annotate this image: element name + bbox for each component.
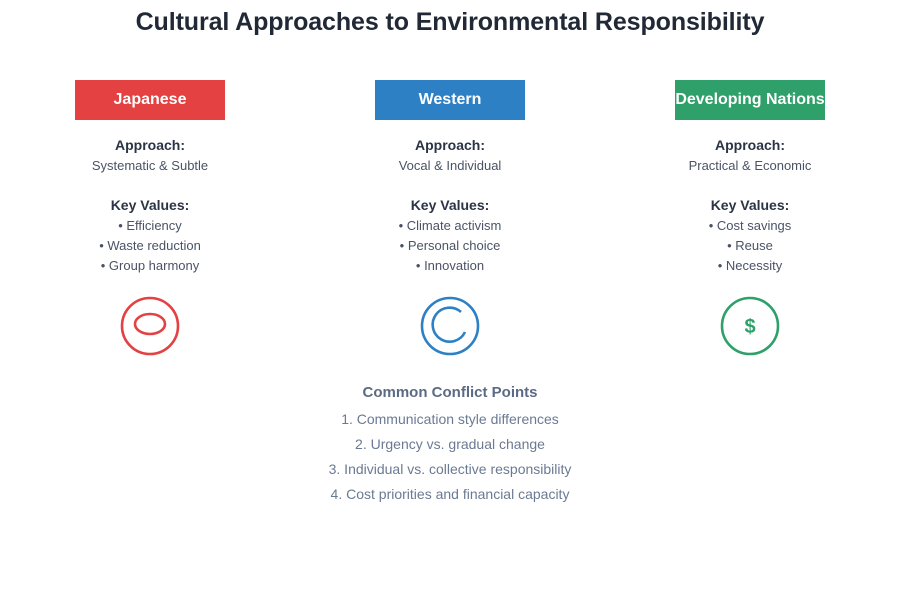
conflict-item: 1. Communication style differences <box>0 411 900 427</box>
approach-value: Vocal & Individual <box>399 158 502 174</box>
culture-columns: Japanese Approach: Systematic & Subtle K… <box>0 80 900 356</box>
key-values-list: • Climate activism • Personal choice • I… <box>399 213 502 273</box>
key-value-item: • Necessity <box>709 258 792 273</box>
ring-with-inner-arc-icon <box>420 296 480 356</box>
key-value-item: • Climate activism <box>399 218 502 233</box>
column-header-western: Western <box>375 80 525 120</box>
conflicts-list: 1. Communication style differences 2. Ur… <box>0 411 900 502</box>
conflict-item: 4. Cost priorities and financial capacit… <box>0 486 900 502</box>
key-value-item: • Innovation <box>399 258 502 273</box>
approach-label: Approach: <box>715 137 785 153</box>
key-value-item: • Reuse <box>709 238 792 253</box>
approach-value: Systematic & Subtle <box>92 158 208 174</box>
column-header-developing-nations: Developing Nations <box>675 80 825 120</box>
key-value-item: • Efficiency <box>99 218 201 233</box>
svg-text:$: $ <box>744 316 755 338</box>
key-value-item: • Personal choice <box>399 238 502 253</box>
conflict-item: 2. Urgency vs. gradual change <box>0 436 900 452</box>
common-conflict-points-section: Common Conflict Points 1. Communication … <box>0 384 900 502</box>
key-value-item: • Cost savings <box>709 218 792 233</box>
conflicts-title: Common Conflict Points <box>0 384 900 402</box>
culture-column-western: Western Approach: Vocal & Individual Key… <box>300 80 600 356</box>
culture-column-japanese: Japanese Approach: Systematic & Subtle K… <box>0 80 300 356</box>
key-values-list: • Cost savings • Reuse • Necessity <box>709 213 792 273</box>
column-header-japanese: Japanese <box>75 80 225 120</box>
key-values-label: Key Values: <box>111 197 190 213</box>
conflict-item: 3. Individual vs. collective responsibil… <box>0 461 900 477</box>
key-values-label: Key Values: <box>411 197 490 213</box>
key-value-item: • Waste reduction <box>99 238 201 253</box>
key-value-item: • Group harmony <box>99 258 201 273</box>
ring-with-inner-ellipse-icon <box>120 296 180 356</box>
page-title: Cultural Approaches to Environmental Res… <box>0 8 900 37</box>
key-values-list: • Efficiency • Waste reduction • Group h… <box>99 213 201 273</box>
key-values-label: Key Values: <box>711 197 790 213</box>
ring-with-dollar-icon: $ <box>720 296 780 356</box>
culture-column-developing-nations: Developing Nations Approach: Practical &… <box>600 80 900 356</box>
approach-value: Practical & Economic <box>689 158 812 174</box>
approach-label: Approach: <box>415 137 485 153</box>
approach-label: Approach: <box>115 137 185 153</box>
